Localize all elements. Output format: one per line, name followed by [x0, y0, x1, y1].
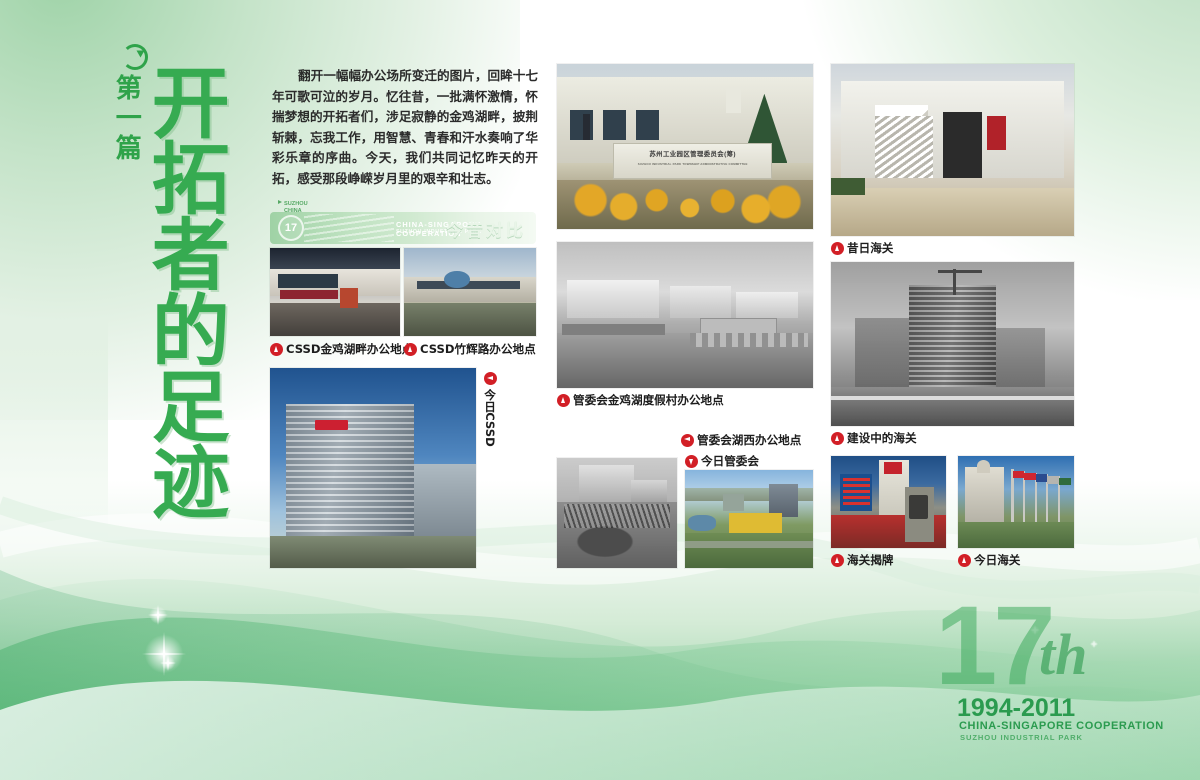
- ribbon-streaks-decoration: [304, 214, 394, 242]
- sign-chinese-text: 苏州工业园区管理委员会(筹): [614, 149, 771, 158]
- photo-customs-unveiling: [831, 456, 946, 548]
- photo-customs-today: [958, 456, 1074, 548]
- caption-cssd-today: 今日CSSD: [482, 372, 498, 452]
- anniversary-seal-icon: 17: [278, 215, 304, 241]
- photo-admin-committee-today: [685, 470, 813, 568]
- red-up-arrow-icon: [831, 242, 844, 255]
- anniversary-number: 17: [935, 590, 1052, 702]
- caption-text: CSSD竹辉路办公地点: [420, 341, 536, 357]
- caption-text: 建设中的海关: [847, 430, 917, 446]
- caption-text: 昔日海关: [847, 240, 893, 256]
- red-up-arrow-icon: [831, 554, 844, 567]
- red-down-arrow-icon: [685, 455, 698, 468]
- caption-customs-today: 今日海关: [958, 552, 1020, 568]
- caption-text: 管委会湖西办公地点: [697, 432, 801, 448]
- sparkle-large-icon: [142, 632, 186, 676]
- left-green-band: [0, 0, 108, 780]
- red-up-arrow-icon: [958, 554, 971, 567]
- photo-cssd-jinji-lake-office: [270, 248, 400, 336]
- anniversary-line2: SUZHOU INDUSTRIAL PARK: [960, 733, 1083, 742]
- poster-page: 第一篇 开拓者的足迹 翻开一幅幅办公场所变迁的图片，回眸十七年可歌可泣的岁月。忆…: [0, 0, 1200, 780]
- ribbon-tag-line1: SUZHOU: [284, 201, 308, 207]
- red-up-arrow-icon: [831, 432, 844, 445]
- caption-text: CSSD金鸡湖畔办公地点: [286, 341, 413, 357]
- caption-admin-committee-jinji-lake-resort-office: 管委会金鸡湖度假村办公地点: [557, 392, 724, 408]
- triangle-icon: [278, 200, 282, 204]
- photo-customs-under-construction: [831, 262, 1074, 426]
- red-up-arrow-icon: [404, 343, 417, 356]
- photo-admin-committee-jinji-lake-resort-office: [557, 242, 813, 388]
- caption-text: 海关揭牌: [847, 552, 893, 568]
- comparison-ribbon: 17 CHINA-SINGAPORE COOPERATION SUZHOU IN…: [270, 212, 536, 244]
- caption-text: 今日海关: [974, 552, 1020, 568]
- anniversary-ordinal: th: [1039, 626, 1087, 684]
- caption-customs-former: 昔日海关: [831, 240, 893, 256]
- photo-cssd-zhuhui-road-office: [404, 248, 536, 336]
- anniversary-years: 1994-2011: [957, 694, 1075, 723]
- intro-paragraph: 翻开一幅幅办公场所变迁的图片，回眸十七年可歌可泣的岁月。忆往昔，一批满怀激情，怀…: [272, 66, 538, 190]
- caption-customs-under-construction: 建设中的海关: [831, 430, 917, 446]
- headline-block: 第一篇 开拓者的足迹: [112, 44, 262, 544]
- caption-customs-unveiling: 海关揭牌: [831, 552, 893, 568]
- photo-cssd-today: [270, 368, 476, 568]
- red-up-arrow-icon: [557, 394, 570, 407]
- page-title: 开拓者的足迹: [148, 62, 220, 518]
- photo-sip-admin-committee-sign: 苏州工业园区管理委员会(筹) SUZHOU INDUSTRIAL PARK TO…: [557, 64, 813, 229]
- caption-text: 今日管委会: [701, 453, 759, 469]
- photo-customs-former: [831, 64, 1074, 236]
- red-left-arrow-icon: [484, 372, 497, 385]
- anniversary-line1: CHINA-SINGAPORE COOPERATION: [959, 720, 1164, 732]
- caption-cssd-jinji-lake-office: CSSD金鸡湖畔办公地点: [270, 341, 413, 357]
- red-left-arrow-icon: [681, 434, 694, 447]
- caption-text: 今日CSSD: [482, 389, 498, 447]
- caption-text: 管委会金鸡湖度假村办公地点: [573, 392, 724, 408]
- caption-admin-committee-today: 今日管委会: [685, 453, 759, 469]
- sparkle-small-icon: [148, 605, 168, 625]
- sparkle-tiny-icon: [160, 655, 176, 671]
- caption-cssd-zhuhui-road-office: CSSD竹辉路办公地点: [404, 341, 536, 357]
- anniversary-logo: 17 th 1994-2011 CHINA-SINGAPORE COOPERAT…: [935, 598, 1170, 758]
- sign-english-text: SUZHOU INDUSTRIAL PARK TOWNSHIP ADMINIST…: [614, 162, 771, 166]
- caption-admin-committee-huxi-office: 管委会湖西办公地点: [681, 432, 801, 448]
- chapter-label: 第一篇: [112, 74, 139, 164]
- ribbon-chinese-heading: 今昔对比: [446, 216, 526, 241]
- photo-admin-committee-huxi-office: [557, 458, 677, 568]
- red-up-arrow-icon: [270, 343, 283, 356]
